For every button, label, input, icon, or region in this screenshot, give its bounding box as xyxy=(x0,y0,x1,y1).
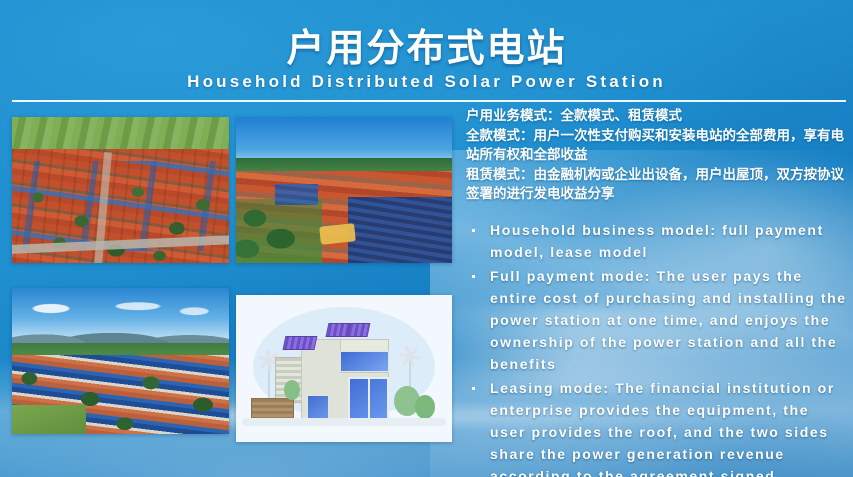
header-divider xyxy=(12,100,846,102)
green-vegetation xyxy=(236,199,322,263)
photo-village-solar-content xyxy=(236,117,452,263)
cloud-band xyxy=(12,297,229,320)
bullet-item: Leasing mode: The financial institution … xyxy=(466,377,848,477)
chinese-line-2: 全款模式：用户一次性支付购买和安装电站的全部费用，享有电站所有权和全部收益 xyxy=(466,127,848,166)
photo-village-hills xyxy=(12,288,229,434)
photo-village-hills-content xyxy=(12,288,229,434)
photo-village-aerial-content xyxy=(12,117,229,263)
bullet-item: Household business model: full payment m… xyxy=(466,219,848,263)
photo-house-illustration-content xyxy=(236,295,452,442)
solar-panel-icon xyxy=(347,323,371,337)
crop-field xyxy=(12,405,86,434)
photo-village-aerial xyxy=(12,117,229,263)
slide-header: 户用分布式电站 Household Distributed Solar Powe… xyxy=(0,0,853,101)
grain-drying-yard xyxy=(319,223,355,244)
solar-panel-array xyxy=(348,197,452,263)
photo-village-solar xyxy=(236,117,452,263)
ground-line xyxy=(242,418,445,426)
blue-sky xyxy=(236,117,452,164)
chinese-paragraphs: 户用业务模式：全款模式、租赁模式 全款模式：用户一次性支付购买和安装电站的全部费… xyxy=(466,107,848,205)
photo-house-illustration xyxy=(236,295,452,442)
tree-icon xyxy=(284,380,300,400)
chinese-line-3: 租赁模式：由金融机构或企业出设备，用户出屋顶，双方按协议签署的进行发电收益分享 xyxy=(466,166,848,205)
content-panel: 户用业务模式：全款模式、租赁模式 全款模式：用户一次性支付购买和安装电站的全部费… xyxy=(466,107,848,477)
slide-root: 户用分布式电站 Household Distributed Solar Powe… xyxy=(0,0,853,477)
chinese-line-1: 户用业务模式：全款模式、租赁模式 xyxy=(466,107,848,127)
solar-panel-icon xyxy=(282,336,317,350)
balcony-glass xyxy=(340,351,390,372)
page-title-chinese: 户用分布式电站 xyxy=(0,0,853,70)
solar-panel-array-secondary xyxy=(275,184,318,204)
english-bullet-list: Household business model: full payment m… xyxy=(466,219,848,477)
bullet-item: Full payment mode: The user pays the ent… xyxy=(466,265,848,375)
page-subtitle-english: Household Distributed Solar Power Statio… xyxy=(0,72,853,92)
